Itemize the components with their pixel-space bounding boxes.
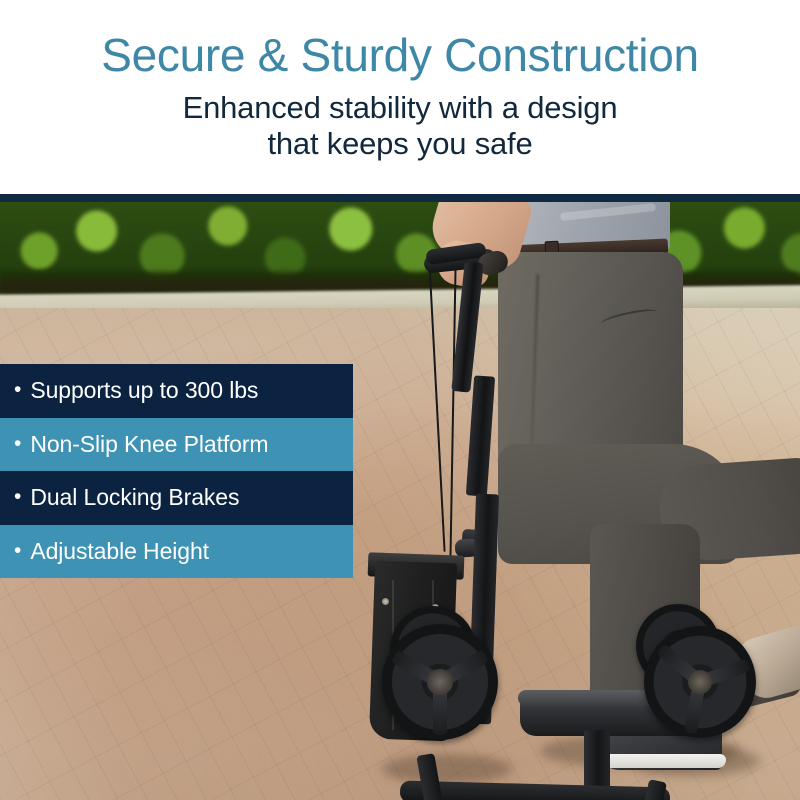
subtitle-line-1: Enhanced stability with a design: [0, 90, 800, 126]
marketing-infographic: Secure & Sturdy Construction Enhanced st…: [0, 0, 800, 800]
feature-list: • Supports up to 300 lbs • Non-Slip Knee…: [0, 364, 353, 578]
feature-item-non-slip-knee-platform: • Non-Slip Knee Platform: [0, 418, 353, 472]
bullet-icon: •: [14, 433, 21, 454]
subtitle-line-2: that keeps you safe: [0, 126, 800, 162]
brake-cable-left: [428, 262, 445, 552]
steering-column-mid: [466, 375, 495, 496]
wheel-rear-outer: [644, 626, 756, 738]
bullet-icon: •: [14, 379, 21, 400]
feature-item-dual-locking-brakes: • Dual Locking Brakes: [0, 471, 353, 525]
page-subtitle: Enhanced stability with a design that ke…: [0, 90, 800, 162]
header-divider: [0, 194, 800, 202]
bullet-icon: •: [14, 540, 21, 561]
feature-item-adjustable-height: • Adjustable Height: [0, 525, 353, 579]
basket-rivet-left: [382, 598, 389, 605]
wheel-hub: [427, 669, 453, 695]
page-title: Secure & Sturdy Construction: [0, 26, 800, 84]
wheel-front-outer: [382, 624, 498, 740]
wheel-hub: [688, 670, 713, 695]
feature-item-supports-300-lbs: • Supports up to 300 lbs: [0, 364, 353, 418]
feature-label: Supports up to 300 lbs: [30, 377, 258, 404]
feature-label: Adjustable Height: [30, 538, 209, 565]
brake-cable-right: [449, 268, 456, 558]
header: Secure & Sturdy Construction Enhanced st…: [0, 0, 800, 194]
feature-label: Dual Locking Brakes: [30, 484, 239, 511]
bullet-icon: •: [14, 486, 21, 507]
feature-label: Non-Slip Knee Platform: [30, 431, 268, 458]
